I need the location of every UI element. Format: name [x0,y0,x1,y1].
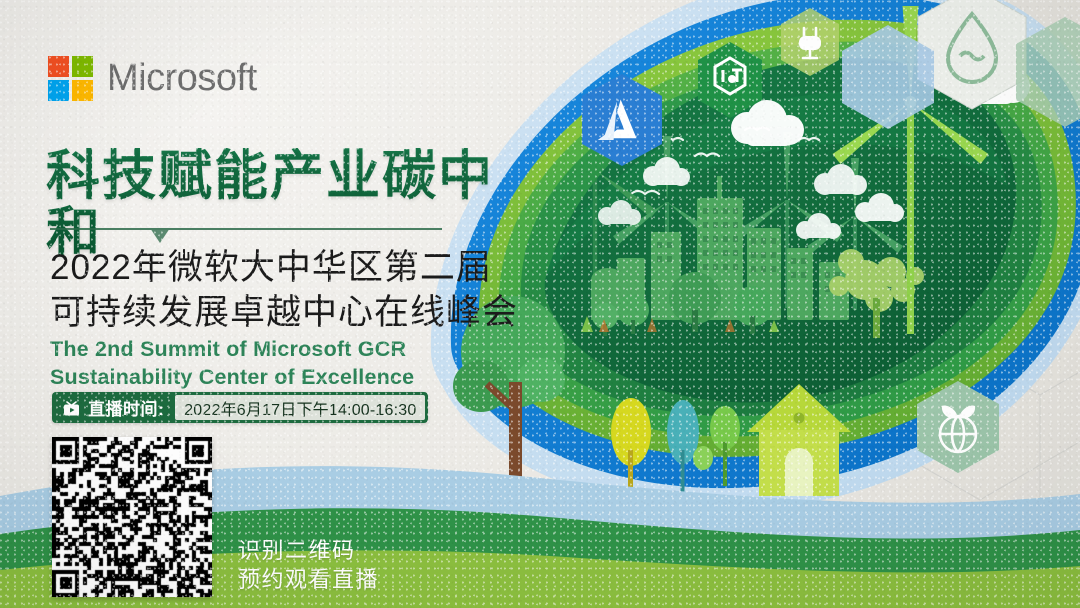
azure-hex-badge[interactable] [578,72,666,168]
subtitle-en-line1: The 2nd Summit of Microsoft GCR [50,336,520,364]
qr-caption-line2: 预约观看直播 [238,565,379,594]
left-content-column: Microsoft 科技赋能产业碳中和 2022年微软大中华区第二届 可持续发展… [0,0,540,608]
tv-play-icon [62,399,81,417]
blue-hex-badge [836,22,940,134]
mint-hex-badge [1010,14,1080,134]
subtitle-english: The 2nd Summit of Microsoft GCR Sustaina… [50,336,520,391]
microsoft-logo: Microsoft [48,56,257,101]
page-title: 科技赋能产业碳中和 [46,148,526,261]
qr-caption-line1: 识别二维码 [238,536,379,565]
title-divider [50,228,442,230]
qr-code[interactable] [52,437,212,597]
subtitle-chinese: 2022年微软大中华区第二届 可持续发展卓越中心在线峰会 [50,246,520,336]
poster-canvas: Microsoft 科技赋能产业碳中和 2022年微软大中华区第二届 可持续发展… [0,0,1080,608]
subtitle-en-line2: Sustainability Center of Excellence [50,364,520,392]
iot-dot [728,75,736,83]
live-time-label-group: 直播时间: [52,392,175,423]
qr-caption: 识别二维码 预约观看直播 [238,536,379,594]
iot-hex-badge[interactable] [694,40,766,120]
plug-hex-badge[interactable] [777,6,843,80]
live-time-label: 直播时间: [88,395,164,420]
eco-globe-hex-badge[interactable] [912,378,1004,480]
live-time-value: 2022年6月17日下午14:00-16:30 [175,395,425,420]
live-time-bar: 直播时间: 2022年6月17日下午14:00-16:30 [52,392,428,423]
microsoft-logo-tiles [48,56,93,101]
microsoft-wordmark: Microsoft [107,57,257,100]
subtitle-cn-line1: 2022年微软大中华区第二届 [50,246,520,291]
subtitle-cn-line2: 可持续发展卓越中心在线峰会 [50,291,520,336]
